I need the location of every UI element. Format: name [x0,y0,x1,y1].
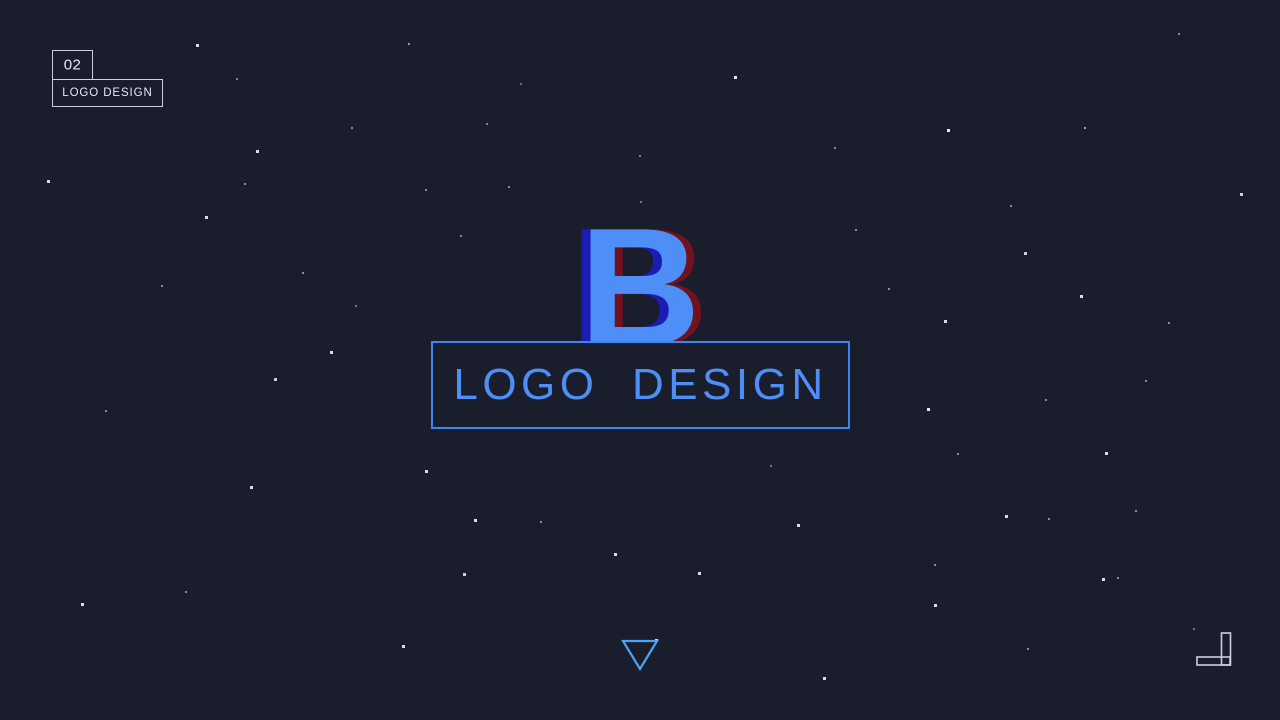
star-dot [1117,577,1119,579]
star-dot [1193,628,1195,630]
star-dot [698,572,701,575]
star-dot [463,573,466,576]
star-dot [855,229,857,231]
star-dot [408,43,410,45]
slide-canvas: LOGO DESIGN 02 B B B LOGO DESIGN [0,0,1280,720]
star-dot [540,521,542,523]
star-dot [927,408,930,411]
star-dot [614,553,617,556]
star-dot [1168,322,1170,324]
star-dot [1027,648,1029,650]
star-dot [770,465,772,467]
star-dot [474,519,477,522]
star-dot [402,645,405,648]
corner-bracket-icon [1196,632,1238,668]
star-dot [639,155,641,157]
star-dot [1048,518,1050,520]
star-dot [330,351,333,354]
star-dot [256,150,259,153]
logo-mark-main-layer: B [0,203,1280,343]
star-dot [161,285,163,287]
star-dot [1024,252,1027,255]
star-dot [934,564,936,566]
star-dot [1178,33,1180,35]
star-dot [486,123,488,125]
star-dot [351,127,353,129]
star-dot [81,603,84,606]
star-dot [1105,452,1108,455]
title-box: LOGO DESIGN [431,341,850,429]
star-dot [957,453,959,455]
section-badge-label-box: LOGO DESIGN [52,79,163,107]
logo-mark-blue-layer: B [0,203,1271,343]
star-dot [244,183,246,185]
star-dot [823,677,826,680]
star-dot [205,216,208,219]
star-dot [834,147,836,149]
section-badge-label: LOGO DESIGN [53,87,162,99]
star-dot [1084,127,1086,129]
star-dot [460,235,462,237]
logo-mark: B B B [0,203,1280,343]
section-badge: LOGO DESIGN 02 [52,50,164,108]
star-dot [934,604,937,607]
star-dot [274,378,277,381]
star-dot [944,320,947,323]
star-dot [105,410,107,412]
star-dot [734,76,737,79]
star-dot [1010,205,1012,207]
star-dot [47,180,50,183]
star-dot [640,201,642,203]
star-dot [425,470,428,473]
star-dot [1045,399,1047,401]
star-dot [1080,295,1083,298]
star-dot [797,524,800,527]
star-dot [1102,578,1105,581]
star-dot [185,591,187,593]
section-badge-number: 02 [53,57,92,74]
section-badge-number-box: 02 [52,50,93,80]
star-dot [425,189,427,191]
page-title: LOGO DESIGN [433,360,848,410]
star-dot [520,83,522,85]
star-dot [1240,193,1243,196]
star-dot [1135,510,1137,512]
triangle-down-icon[interactable] [620,638,660,672]
star-dot [236,78,238,80]
star-dot [355,305,357,307]
logo-mark-red-layer: B [8,203,1280,343]
star-dot [1005,515,1008,518]
star-dot [508,186,510,188]
star-dot [888,288,890,290]
star-dot [947,129,950,132]
star-dot [1145,380,1147,382]
star-dot [196,44,199,47]
star-dot [302,272,304,274]
star-dot [250,486,253,489]
